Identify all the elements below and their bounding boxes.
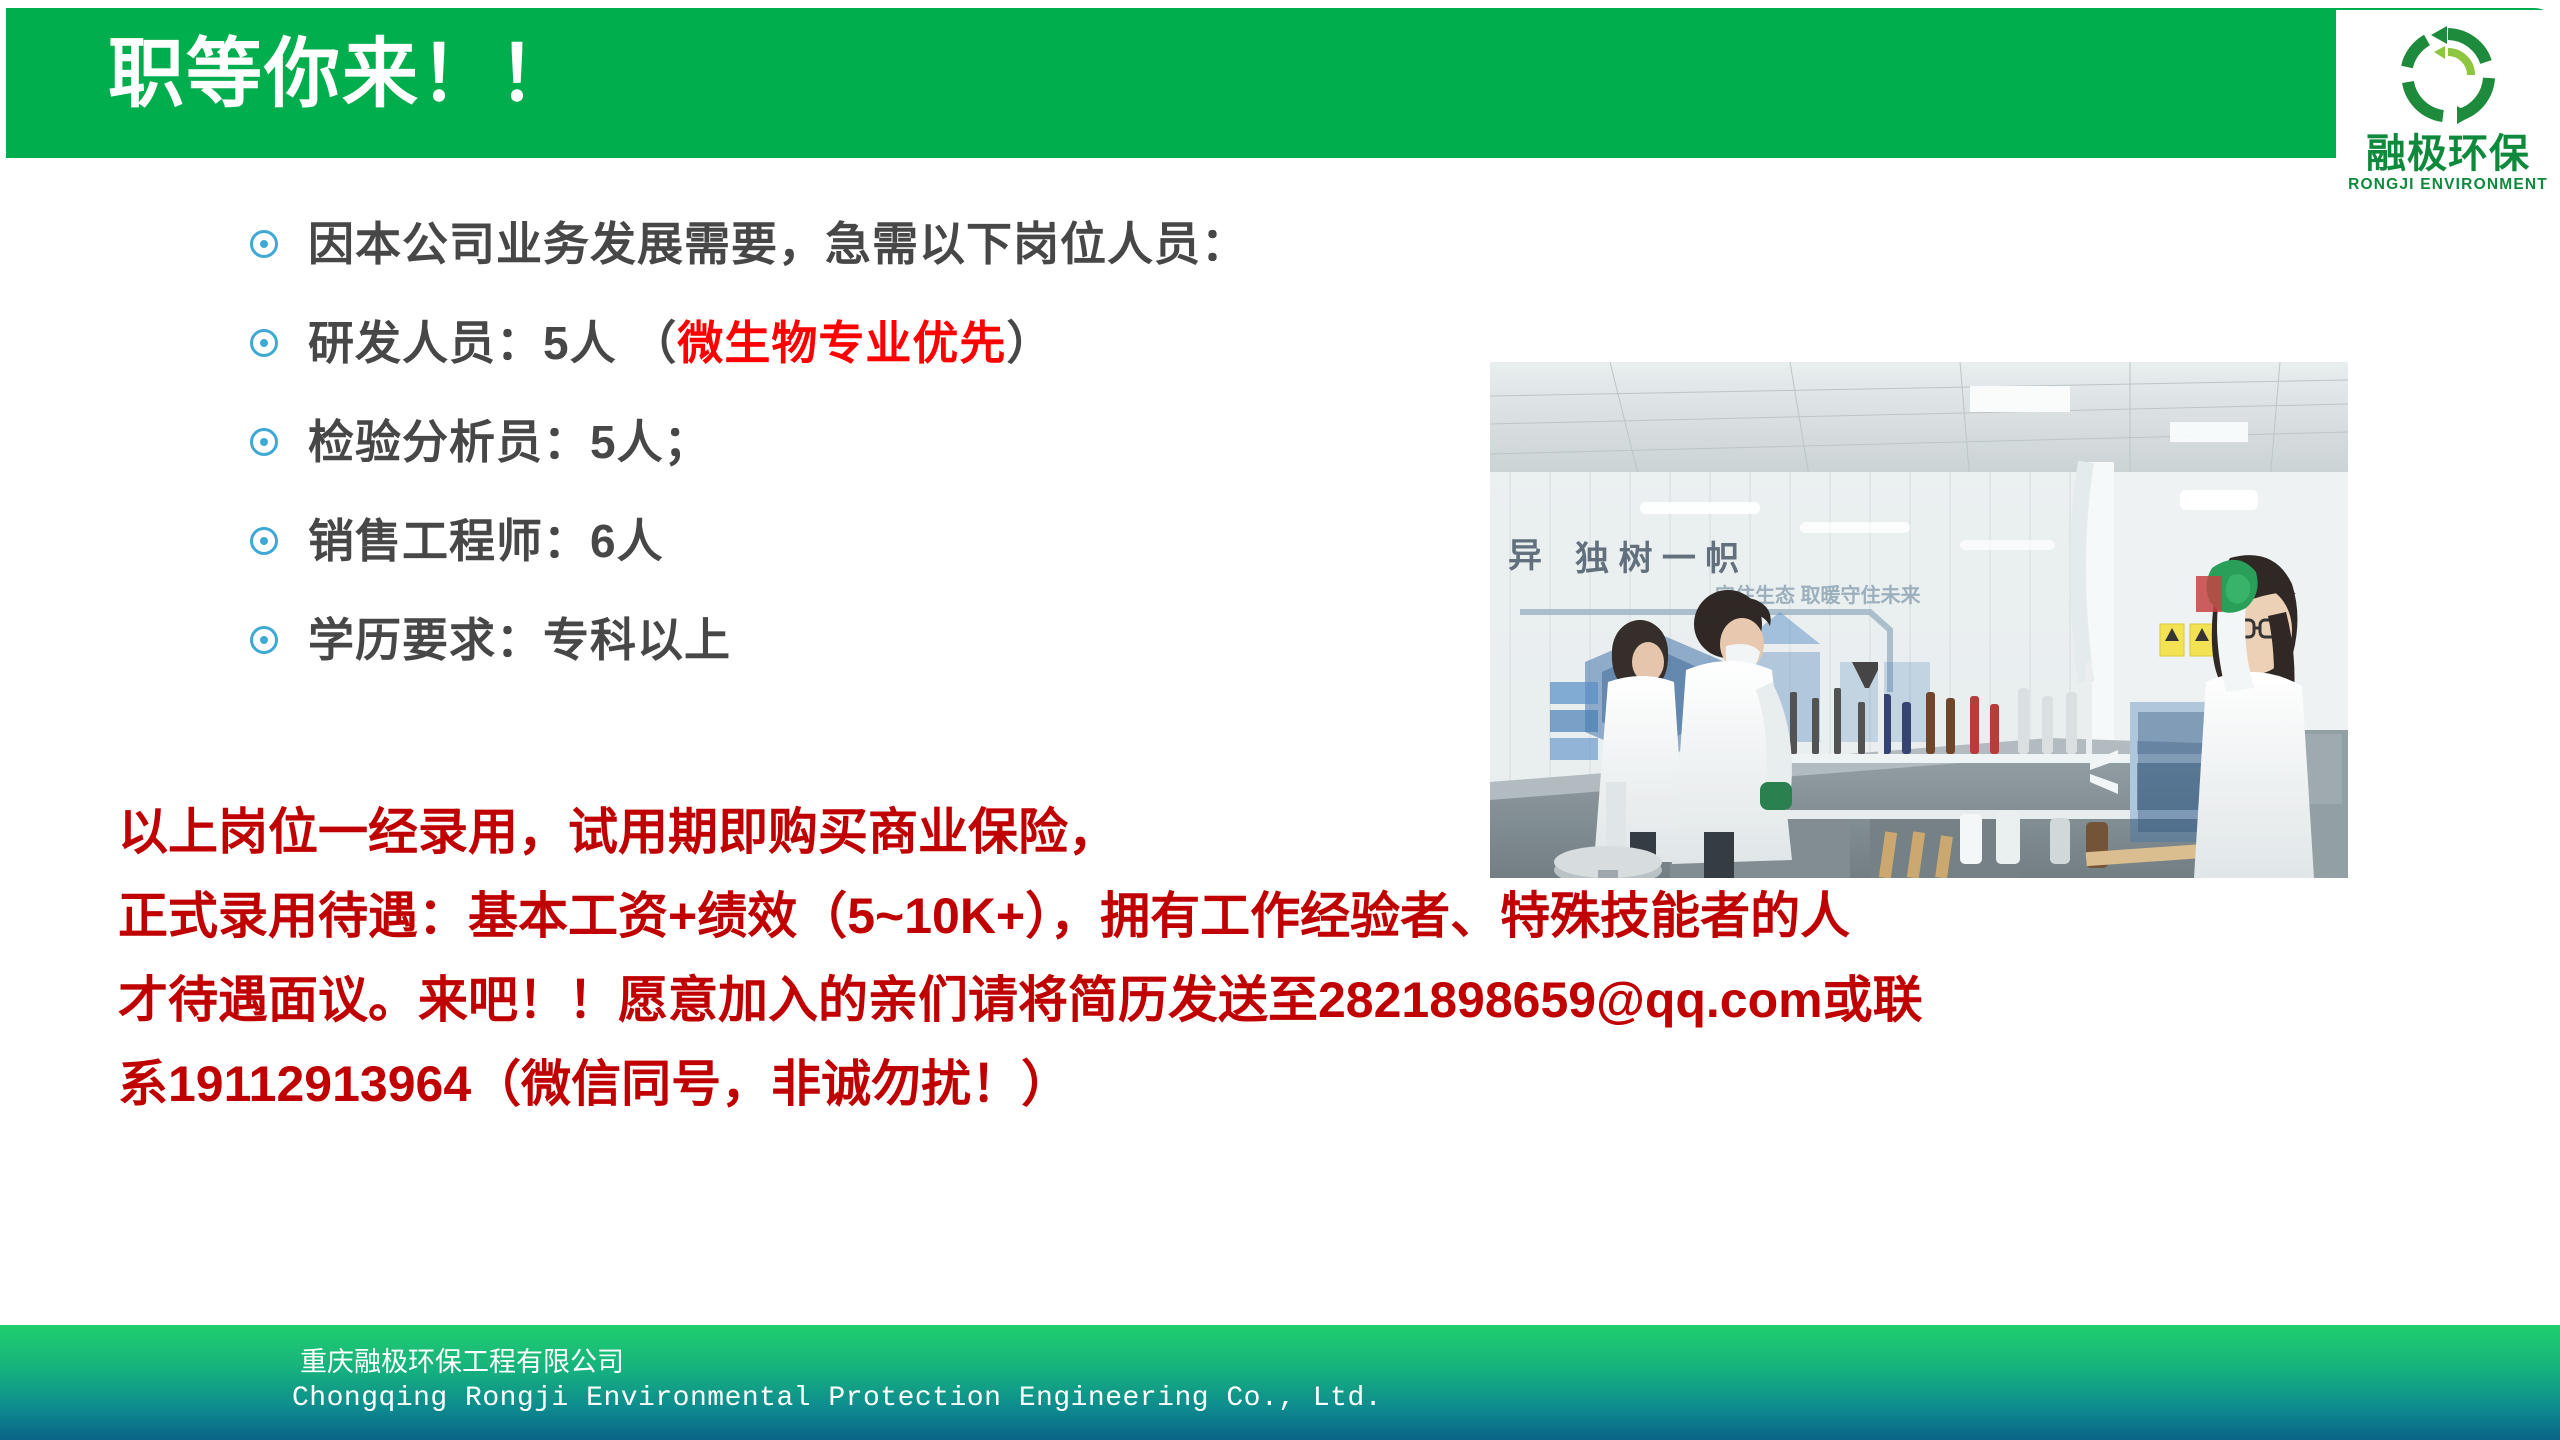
list-item-label: 学历要求：专科以上 xyxy=(308,612,731,668)
page-title: 职等你来！！ xyxy=(108,22,576,127)
logo-english-name: RONGJI ENVIRONMENT xyxy=(2348,176,2548,194)
job-note-highlight: 微生物专业优先 xyxy=(677,317,1006,369)
list-item-label: 检验分析员：5人； xyxy=(308,414,711,470)
footer-company-name-cn: 重庆融极环保工程有限公司 xyxy=(300,1345,624,1379)
list-item: 销售工程师：6人 xyxy=(250,503,1500,578)
notice-line: 以上岗位一经录用，试用期即购买商业保险， xyxy=(118,790,2498,874)
list-item: 检验分析员：5人； xyxy=(250,404,1500,479)
job-title-rd: 研发人员：5人 （ xyxy=(308,317,677,369)
list-item-label: 销售工程师：6人 xyxy=(308,513,664,569)
bullet-dot-icon xyxy=(250,230,278,258)
list-item: 因本公司业务发展需要，急需以下岗位人员： xyxy=(250,206,1500,281)
bullet-dot-icon xyxy=(250,428,278,456)
list-item: 研发人员：5人 （微生物专业优先） xyxy=(250,305,1500,380)
list-item: 学历要求：专科以上 xyxy=(250,602,1500,677)
bullet-dot-icon xyxy=(250,527,278,555)
notice-line: 才待遇面议。来吧！！愿意加入的亲们请将简历发送至2821898659@qq.co… xyxy=(118,958,2498,1042)
job-requirements-list: 因本公司业务发展需要，急需以下岗位人员： 研发人员：5人 （微生物专业优先） 检… xyxy=(250,206,1500,677)
notice-line: 正式录用待遇：基本工资+绩效（5~10K+），拥有工作经验者、特殊技能者的人 xyxy=(118,874,2498,958)
recruitment-notice: 以上岗位一经录用，试用期即购买商业保险， 正式录用待遇：基本工资+绩效（5~10… xyxy=(118,790,2498,1126)
list-item-label: 因本公司业务发展需要，急需以下岗位人员： xyxy=(308,216,1248,272)
footer-company-name-en: Chongqing Rongji Environmental Protectio… xyxy=(292,1382,1382,1416)
job-note-close-paren: ） xyxy=(1006,317,1053,369)
bullet-dot-icon xyxy=(250,626,278,654)
notice-line: 系19112913964（微信同号，非诚勿扰！） xyxy=(118,1042,2498,1126)
recycle-circle-arrows-icon xyxy=(2393,20,2503,130)
list-item-label: 研发人员：5人 （微生物专业优先） xyxy=(308,315,1053,371)
bullet-dot-icon xyxy=(250,329,278,357)
company-logo: 融极环保 RONGJI ENVIRONMENT xyxy=(2336,10,2560,210)
logo-chinese-name: 融极环保 xyxy=(2366,132,2530,176)
